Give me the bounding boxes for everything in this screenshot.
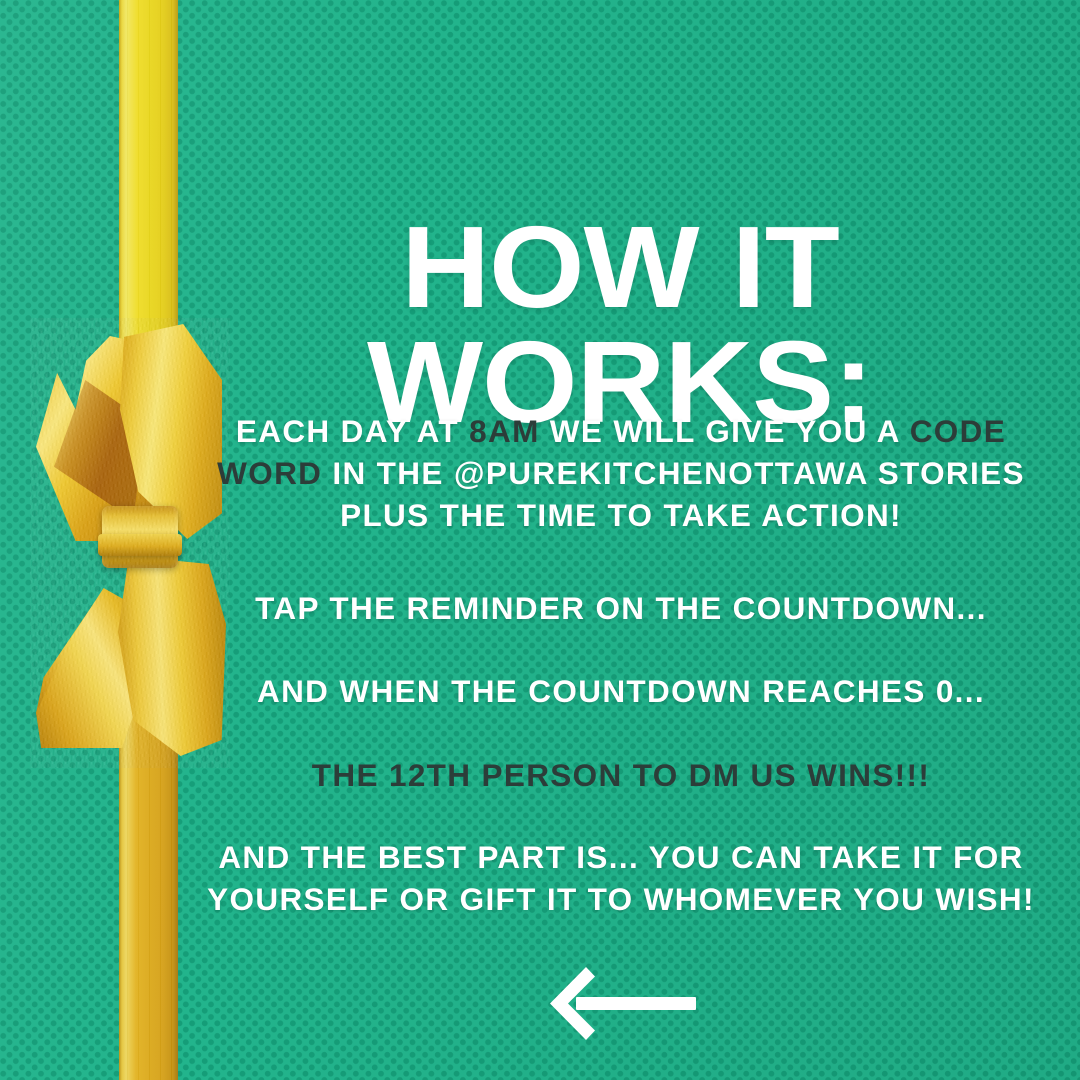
left-arrow-icon [548,963,698,1045]
text-run-dark: CODE [910,413,1006,449]
paragraph-tap-reminder: TAP THE REMINDER ON THE COUNTDOWN... [176,587,1066,629]
text-run-white: AND WHEN THE COUNTDOWN REACHES 0... [257,673,985,709]
text-run-dark: WORD [217,455,322,491]
paragraph-winner-rule: THE 12TH PERSON TO DM US WINS!!! [176,754,1066,796]
ribbon-vertical-bottom [119,700,178,1080]
text-run-dark: 8AM [469,413,540,449]
text-run-white: AND THE BEST PART IS... YOU CAN TAKE IT … [218,839,1023,875]
bow-knot-band [98,534,182,556]
paragraph-countdown-zero: AND WHEN THE COUNTDOWN REACHES 0... [176,670,1066,712]
page-title: HOW IT WORKS: [154,210,1080,440]
text-run-white: EACH DAY AT [236,413,469,449]
instructions-body: EACH DAY AT 8AM WE WILL GIVE YOU A CODEW… [176,410,1066,920]
text-run-white: TAP THE REMINDER ON THE COUNTDOWN... [255,590,987,626]
paragraph-code-word-announcement: EACH DAY AT 8AM WE WILL GIVE YOU A CODEW… [176,410,1066,536]
promo-poster: HOW IT WORKS: EACH DAY AT 8AM WE WILL GI… [0,0,1080,1080]
text-run-white: IN THE @PUREKITCHENOTTAWA STORIES [322,455,1025,491]
left-arrow-swipe-cue[interactable] [548,963,698,1045]
paragraph-best-part: AND THE BEST PART IS... YOU CAN TAKE IT … [176,836,1066,920]
text-run-white: YOURSELF OR GIFT IT TO WHOMEVER YOU WISH… [207,881,1035,917]
text-run-white: PLUS THE TIME TO TAKE ACTION! [340,497,902,533]
text-run-dark: THE 12TH PERSON TO DM US WINS!!! [312,757,930,793]
text-run-white: WE WILL GIVE YOU A [540,413,910,449]
